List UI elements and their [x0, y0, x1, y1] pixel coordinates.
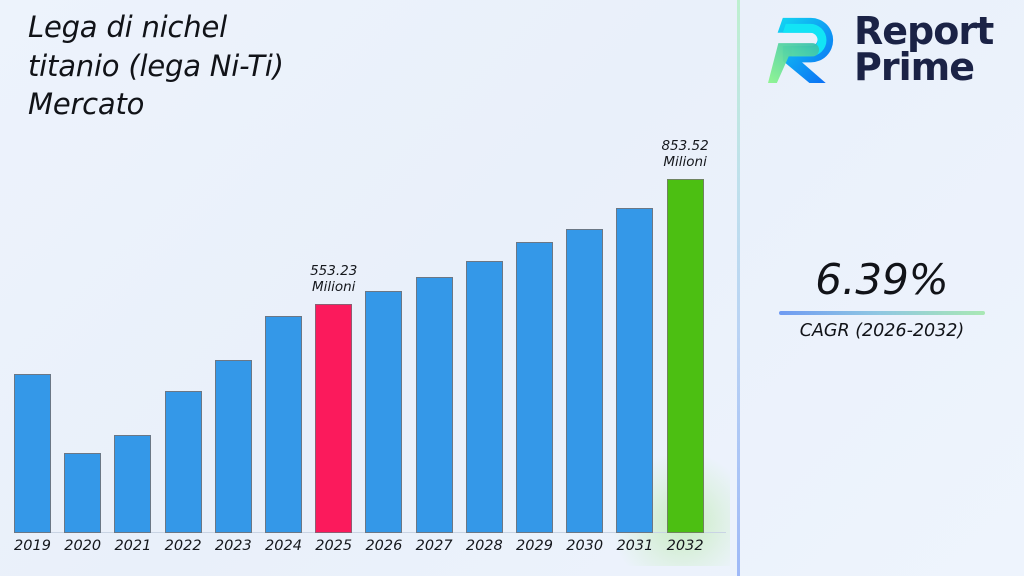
x-axis-label-2019: 2019 — [8, 538, 58, 554]
bar-2026 — [365, 291, 402, 533]
bar-2021 — [114, 435, 151, 533]
bar-2031 — [616, 208, 653, 533]
bar-2023 — [215, 360, 252, 533]
cagr-divider — [779, 311, 985, 315]
bar-2029 — [516, 242, 553, 533]
x-axis-label-2020: 2020 — [58, 538, 108, 554]
bar-2024 — [265, 316, 302, 533]
x-axis-label-2026: 2026 — [359, 538, 409, 554]
x-axis-label-2031: 2031 — [610, 538, 660, 554]
bar-2030 — [566, 229, 603, 533]
x-axis-label-2027: 2027 — [409, 538, 459, 554]
bar-2019 — [14, 374, 51, 533]
bar-2025 — [315, 304, 352, 533]
brand-line-2: Prime — [854, 49, 993, 85]
infographic-root: Lega di nichel titanio (lega Ni-Ti) Merc… — [0, 0, 1024, 576]
brand-panel: Report Prime 6.39% CAGR (2026-2032) — [740, 0, 1024, 576]
x-axis-label-2022: 2022 — [158, 538, 208, 554]
cagr-value: 6.39% — [740, 255, 1024, 304]
x-axis-label-2025: 2025 — [309, 538, 359, 554]
x-axis-label-2028: 2028 — [459, 538, 509, 554]
cagr-caption: CAGR (2026-2032) — [740, 321, 1024, 341]
brand-line-1: Report — [854, 13, 993, 49]
report-prime-r-logo-icon — [768, 12, 842, 86]
x-axis-label-2029: 2029 — [510, 538, 560, 554]
value-label-2032: 853.52 Milioni — [625, 139, 738, 171]
x-axis-label-2023: 2023 — [208, 538, 258, 554]
bar-2032 — [667, 179, 704, 533]
x-axis-label-2030: 2030 — [560, 538, 610, 554]
brand-wordmark: Report Prime — [854, 13, 993, 86]
cagr-block: 6.39% CAGR (2026-2032) — [740, 255, 1024, 341]
x-axis-label-2032: 2032 — [660, 538, 710, 554]
x-axis-label-2021: 2021 — [108, 538, 158, 554]
bar-2027 — [416, 277, 453, 533]
chart-panel: Lega di nichel titanio (lega Ni-Ti) Merc… — [0, 0, 738, 576]
bar-2020 — [64, 453, 101, 533]
brand-logo: Report Prime — [768, 12, 993, 86]
x-axis-label-2024: 2024 — [259, 538, 309, 554]
bar-2022 — [165, 391, 202, 533]
bar-chart-plot: 2019202020212022202320242025553.23 Milio… — [0, 0, 738, 533]
bar-2028 — [466, 261, 503, 533]
